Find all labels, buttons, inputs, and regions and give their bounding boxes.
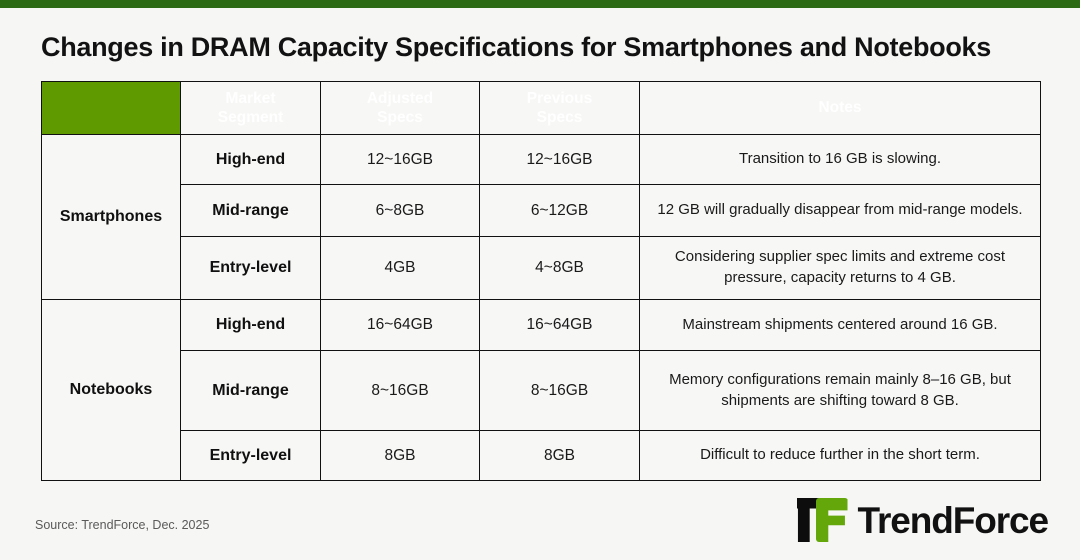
previous-spec-cell: 12~16GB [480,135,640,185]
segment-cell: High-end [181,135,321,185]
notes-cell: Considering supplier spec limits and ext… [640,237,1041,300]
header-cell-notes: Notes [640,82,1041,135]
adjusted-spec-cell: 8~16GB [321,351,480,431]
header-cell-previous-specs: Previous Specs [480,82,640,135]
notes-cell: Transition to 16 GB is slowing. [640,135,1041,185]
segment-cell: High-end [181,300,321,351]
previous-spec-cell: 4~8GB [480,237,640,300]
trendforce-tf-mark-icon [797,498,848,542]
header-market-segment-line1: Market [181,89,320,108]
adjusted-spec-cell: 16~64GB [321,300,480,351]
table-row: Mid-range 6~8GB 6~12GB 12 GB will gradua… [42,185,1041,237]
header-previous-line2: Specs [480,108,639,127]
logo-wordmark: TrendForce [858,502,1049,539]
previous-spec-cell: 8~16GB [480,351,640,431]
adjusted-spec-cell: 4GB [321,237,480,300]
header-adjusted-line1: Adjusted [321,89,479,108]
table-body: Smartphones High-end 12~16GB 12~16GB Tra… [42,135,1041,481]
header-previous-line1: Previous [480,89,639,108]
adjusted-spec-cell: 12~16GB [321,135,480,185]
table-row: Entry-level 8GB 8GB Difficult to reduce … [42,431,1041,481]
trendforce-logo: TrendForce [797,497,1049,543]
source-note: Source: TrendForce, Dec. 2025 [35,518,209,532]
group-cell-notebooks: Notebooks [42,300,181,481]
segment-cell: Mid-range [181,351,321,431]
table-row: Entry-level 4GB 4~8GB Considering suppli… [42,237,1041,300]
top-accent-bar [0,0,1080,8]
header-cell-adjusted-specs: Adjusted Specs [321,82,480,135]
segment-cell: Entry-level [181,237,321,300]
table-row: Notebooks High-end 16~64GB 16~64GB Mains… [42,300,1041,351]
notes-cell: Difficult to reduce further in the short… [640,431,1041,481]
logo-mark-ef-icon [816,498,848,542]
header-adjusted-line2: Specs [321,108,479,127]
previous-spec-cell: 16~64GB [480,300,640,351]
group-cell-smartphones: Smartphones [42,135,181,300]
adjusted-spec-cell: 8GB [321,431,480,481]
header-market-segment-line2: Segment [181,108,320,127]
table-row: Smartphones High-end 12~16GB 12~16GB Tra… [42,135,1041,185]
dram-capacity-spec-table: Market Segment Adjusted Specs Previous S… [41,81,1041,481]
previous-spec-cell: 6~12GB [480,185,640,237]
segment-cell: Mid-range [181,185,321,237]
adjusted-spec-cell: 6~8GB [321,185,480,237]
notes-cell: Mainstream shipments centered around 16 … [640,300,1041,351]
previous-spec-cell: 8GB [480,431,640,481]
header-cell-market-segment: Market Segment [181,82,321,135]
segment-cell: Entry-level [181,431,321,481]
table-head: Market Segment Adjusted Specs Previous S… [42,82,1041,135]
spec-table-container: Market Segment Adjusted Specs Previous S… [41,81,1040,481]
page-title: Changes in DRAM Capacity Specifications … [41,32,1041,63]
table-header-row: Market Segment Adjusted Specs Previous S… [42,82,1041,135]
header-cell-group [42,82,181,135]
notes-cell: Memory configurations remain mainly 8–16… [640,351,1041,431]
notes-cell: 12 GB will gradually disappear from mid-… [640,185,1041,237]
table-row: Mid-range 8~16GB 8~16GB Memory configura… [42,351,1041,431]
